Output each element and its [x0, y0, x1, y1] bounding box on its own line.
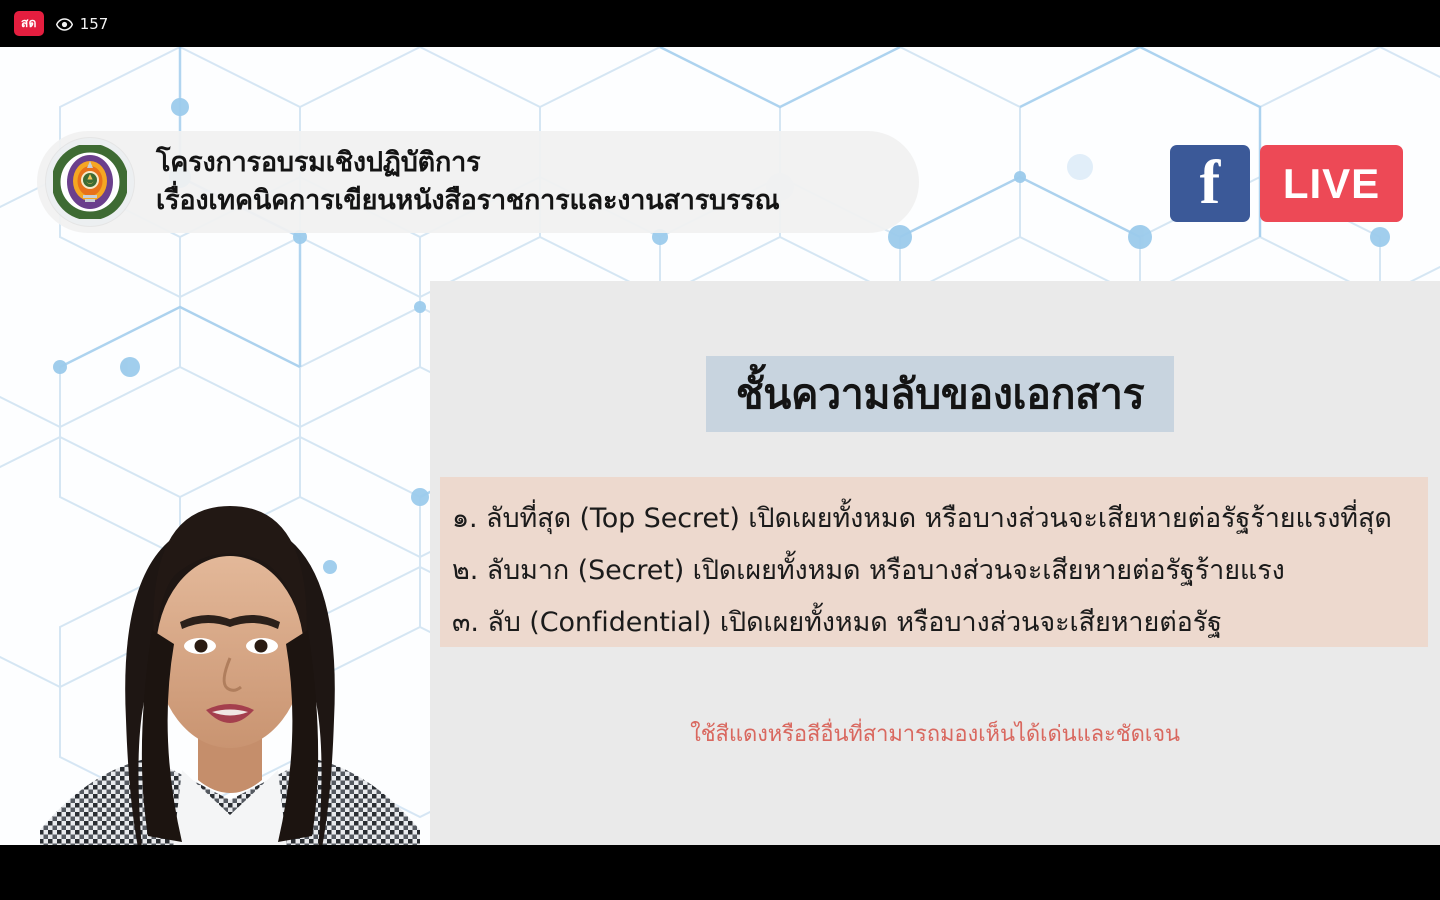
live-label-box: LIVE [1260, 145, 1403, 222]
slide-item-1: ๑. ลับที่สุด (Top Secret) เปิดเผยทั้งหมด… [452, 493, 1428, 545]
viewer-count-value: 157 [80, 15, 109, 33]
slide-item-2: ๒. ลับมาก (Secret) เปิดเผยทั้งหมด หรือบา… [452, 545, 1428, 597]
live-stream-screen: โครงการอบรมเชิงปฏิบัติการ เรื่องเทคนิคกา… [0, 0, 1440, 900]
stream-status-bar: สด 157 [0, 0, 1440, 47]
presentation-slide: ชั้นความลับของเอกสาร ๑. ลับที่สุด (Top S… [430, 281, 1440, 845]
facebook-logo-icon: f [1170, 145, 1250, 222]
slide-body-box: ๑. ลับที่สุด (Top Secret) เปิดเผยทั้งหมด… [440, 477, 1428, 647]
event-title-line-2: เรื่องเทคนิคการเขียนหนังสือราชการและงานส… [156, 182, 779, 220]
eye-icon [56, 17, 73, 30]
event-title-line-1: โครงการอบรมเชิงปฏิบัติการ [156, 144, 779, 182]
slide-item-3: ๓. ลับ (Confidential) เปิดเผยทั้งหมด หรื… [452, 597, 1428, 649]
event-title-text: โครงการอบรมเชิงปฏิบัติการ เรื่องเทคนิคกา… [156, 144, 779, 221]
presenter-video-overlay [30, 470, 430, 845]
slide-title-text: ชั้นความลับของเอกสาร [736, 362, 1145, 427]
slide-footnote: ใช้สีแดงหรือสีอื่นที่สามารถมองเห็นได้เด่… [430, 716, 1440, 751]
presenter-figure [30, 470, 430, 845]
live-status-badge[interactable]: สด [14, 11, 44, 36]
video-player-area[interactable]: โครงการอบรมเชิงปฏิบัติการ เรื่องเทคนิคกา… [0, 47, 1440, 845]
facebook-live-badge: f LIVE [1170, 145, 1403, 222]
university-emblem-icon [46, 138, 134, 226]
slide-title-highlight: ชั้นความลับของเอกสาร [706, 356, 1174, 432]
facebook-f-glyph: f [1170, 152, 1250, 214]
viewer-count-group: 157 [56, 15, 109, 33]
bottom-letterbox [0, 845, 1440, 900]
event-title-banner: โครงการอบรมเชิงปฏิบัติการ เรื่องเทคนิคกา… [37, 131, 919, 233]
